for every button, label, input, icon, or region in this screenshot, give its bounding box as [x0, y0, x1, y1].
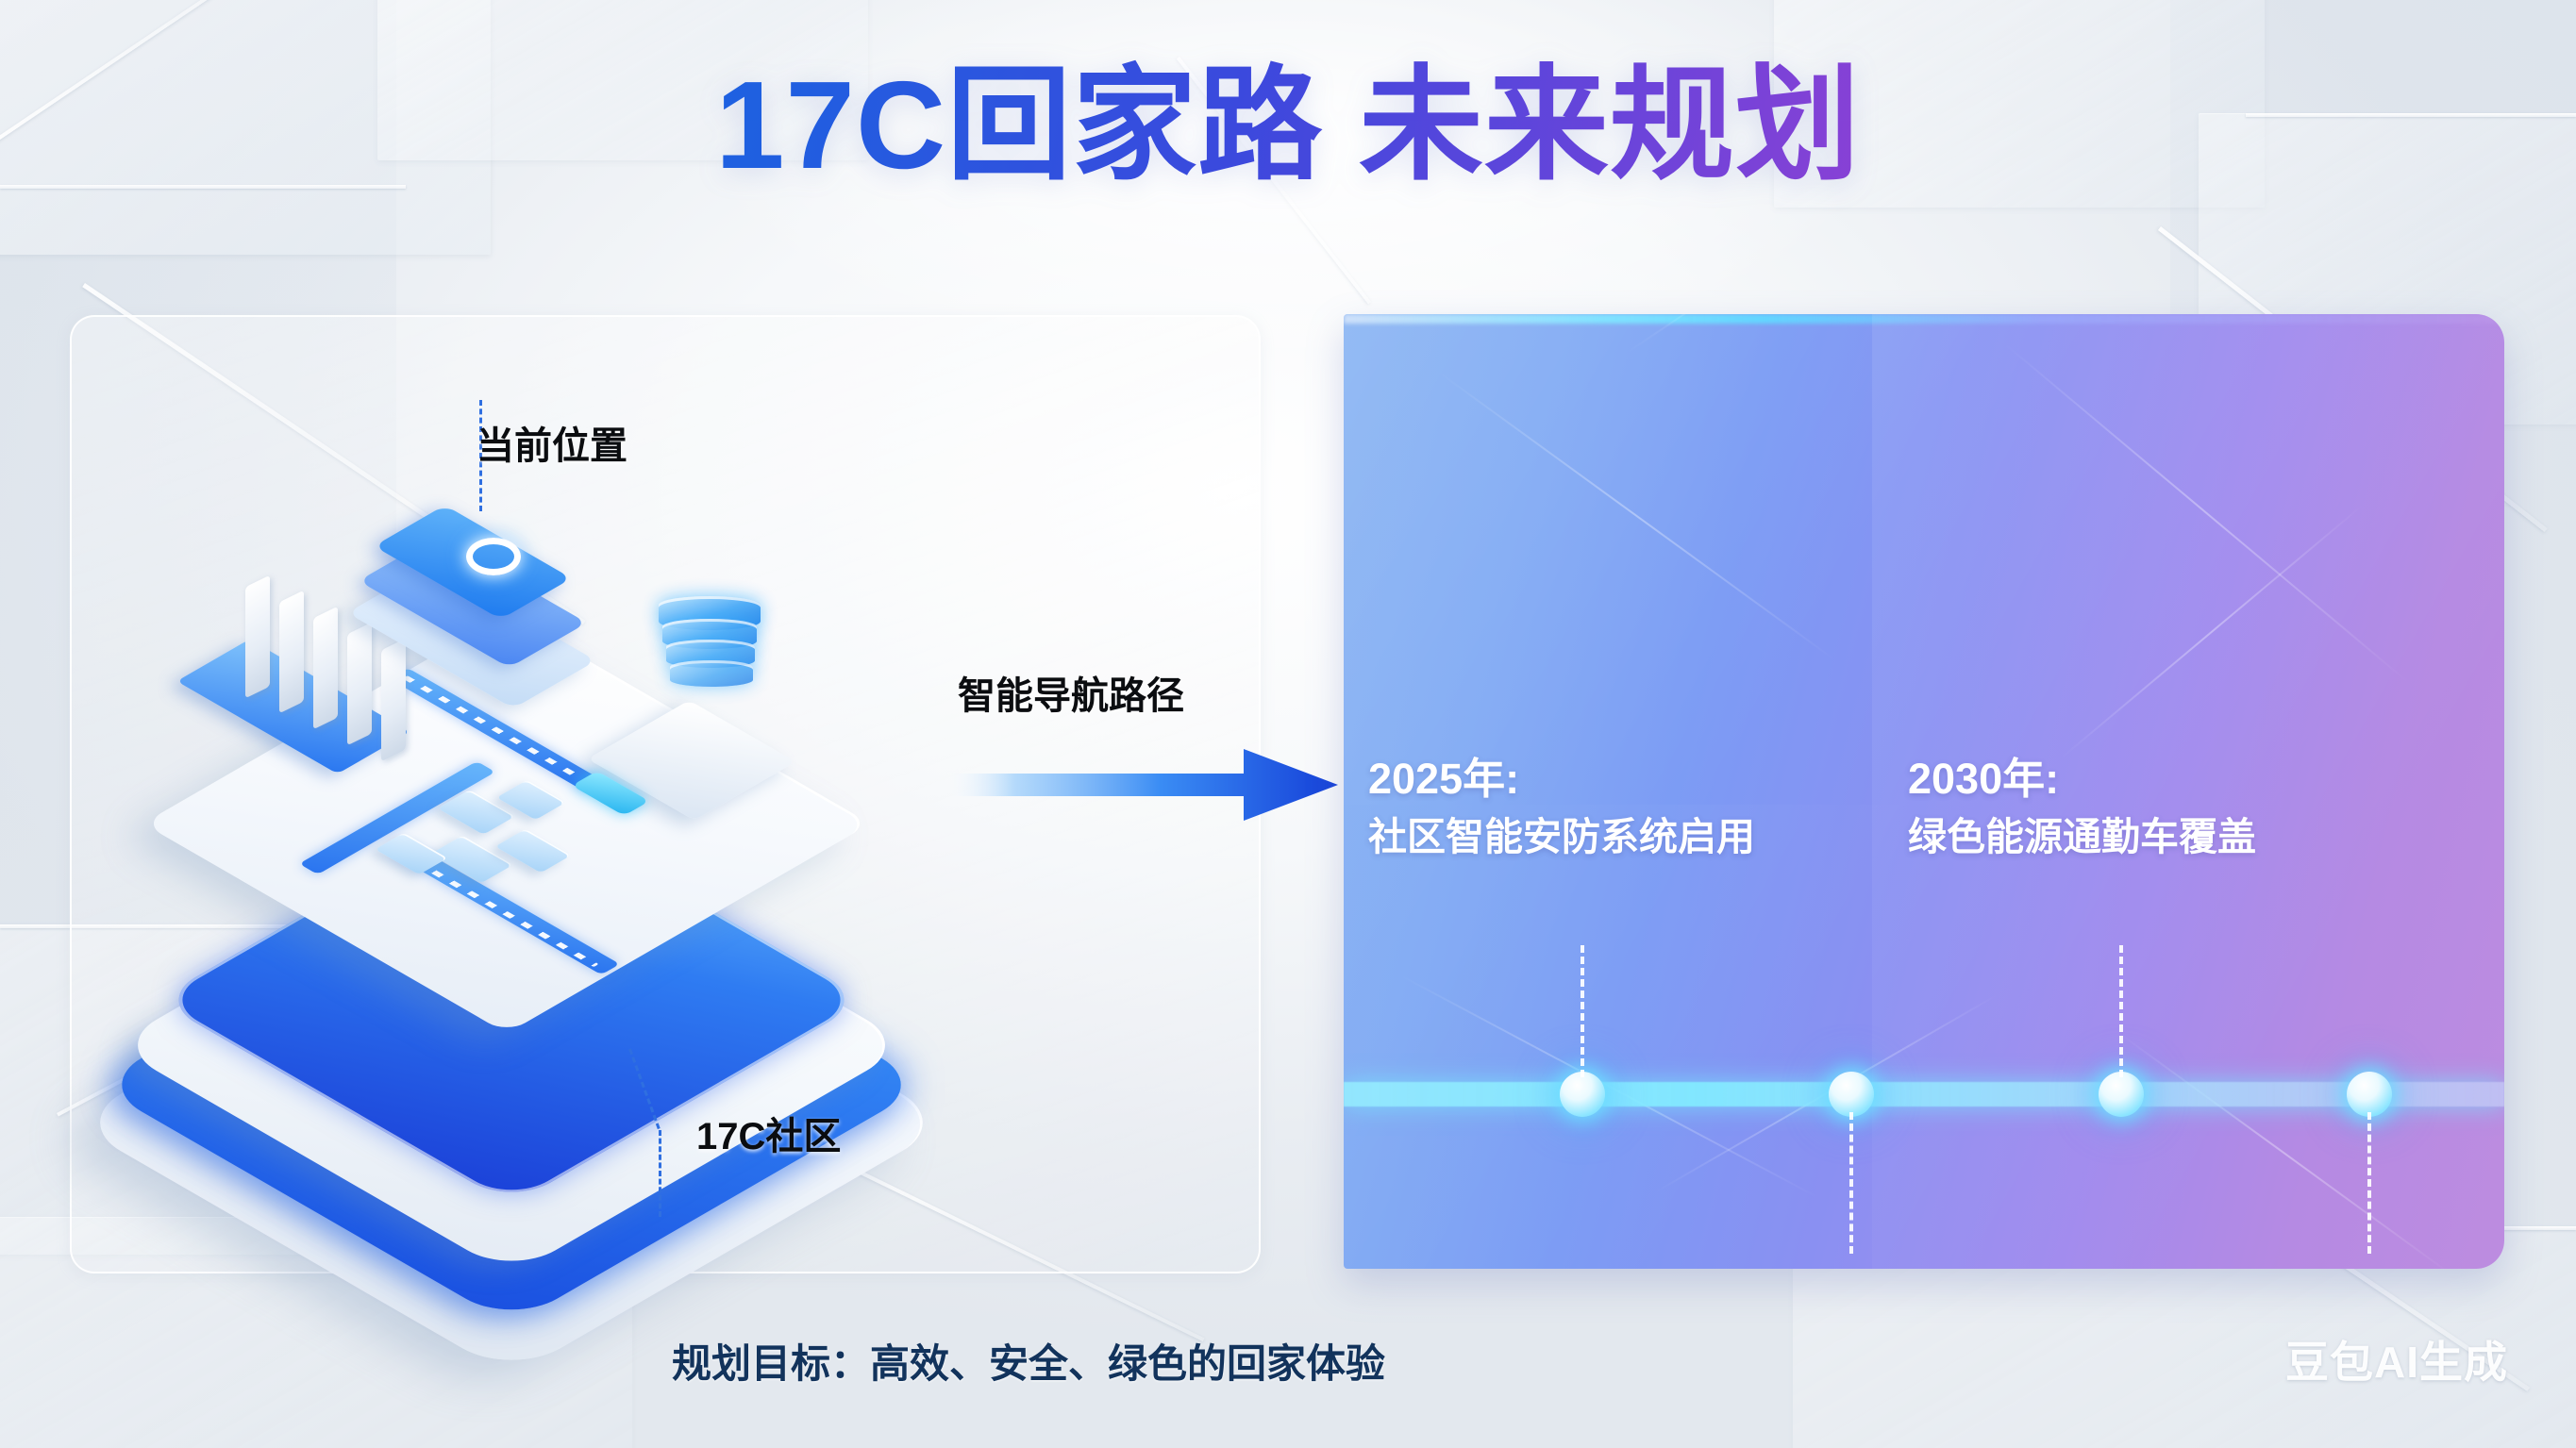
arrow-right-icon	[944, 745, 1340, 824]
leader-line-community-b	[659, 1130, 661, 1217]
timeline-item-4: 2035年: AI个性化回家 服务上线	[2155, 1263, 2504, 1269]
connector-2	[1849, 1112, 1853, 1254]
page-title: 17C回家路 未来规划	[0, 52, 2576, 199]
label-17c-community: 17C社区	[696, 1106, 841, 1160]
timeline-node-3[interactable]	[2099, 1072, 2144, 1117]
timeline-item-3-year: 2030年:	[1908, 748, 2256, 809]
timeline-item-2: 2030年: 绿色能源通勤车覆盖	[1625, 1263, 2074, 1269]
timeline-item-4-year: 2035年:	[2155, 1263, 2504, 1269]
timeline-item-1: 2025年: 社区智能安防系统启用	[1368, 748, 1755, 866]
label-current-location: 当前位置	[477, 415, 627, 470]
nav-path-label: 智能导航路径	[958, 665, 1184, 720]
connector-1	[1581, 945, 1584, 1077]
timeline-item-2-year: 2030年:	[1625, 1263, 2074, 1269]
timeline-node-2[interactable]	[1829, 1072, 1874, 1117]
timeline-item-1-year: 2025年:	[1368, 748, 1755, 809]
timeline-item-1-text: 社区智能安防系统启用	[1368, 809, 1755, 865]
timeline-node-4[interactable]	[2347, 1072, 2392, 1117]
timeline-node-1[interactable]	[1560, 1072, 1605, 1117]
timeline-item-3: 2030年: 绿色能源通勤车覆盖	[1908, 748, 2256, 866]
connector-3	[2119, 945, 2123, 1077]
watermark-doubao-ai: 豆包AI生成	[2285, 1328, 2508, 1390]
current-location-ring-icon	[466, 538, 521, 575]
connector-4	[2367, 1112, 2371, 1254]
infographic-canvas: 17C回家路 未来规划	[0, 0, 2576, 1448]
timeline-item-3-text: 绿色能源通勤车覆盖	[1908, 809, 2256, 865]
timeline-panel: 2025年: 社区智能安防系统启用 2030年: 绿色能源通勤车覆盖 2030年…	[1344, 314, 2504, 1269]
footer-goal-text: 规划目标：高效、安全、绿色的回家体验	[0, 1332, 2057, 1390]
timeline-rail	[1344, 1082, 2504, 1107]
community-3d-illustration	[104, 472, 972, 1217]
